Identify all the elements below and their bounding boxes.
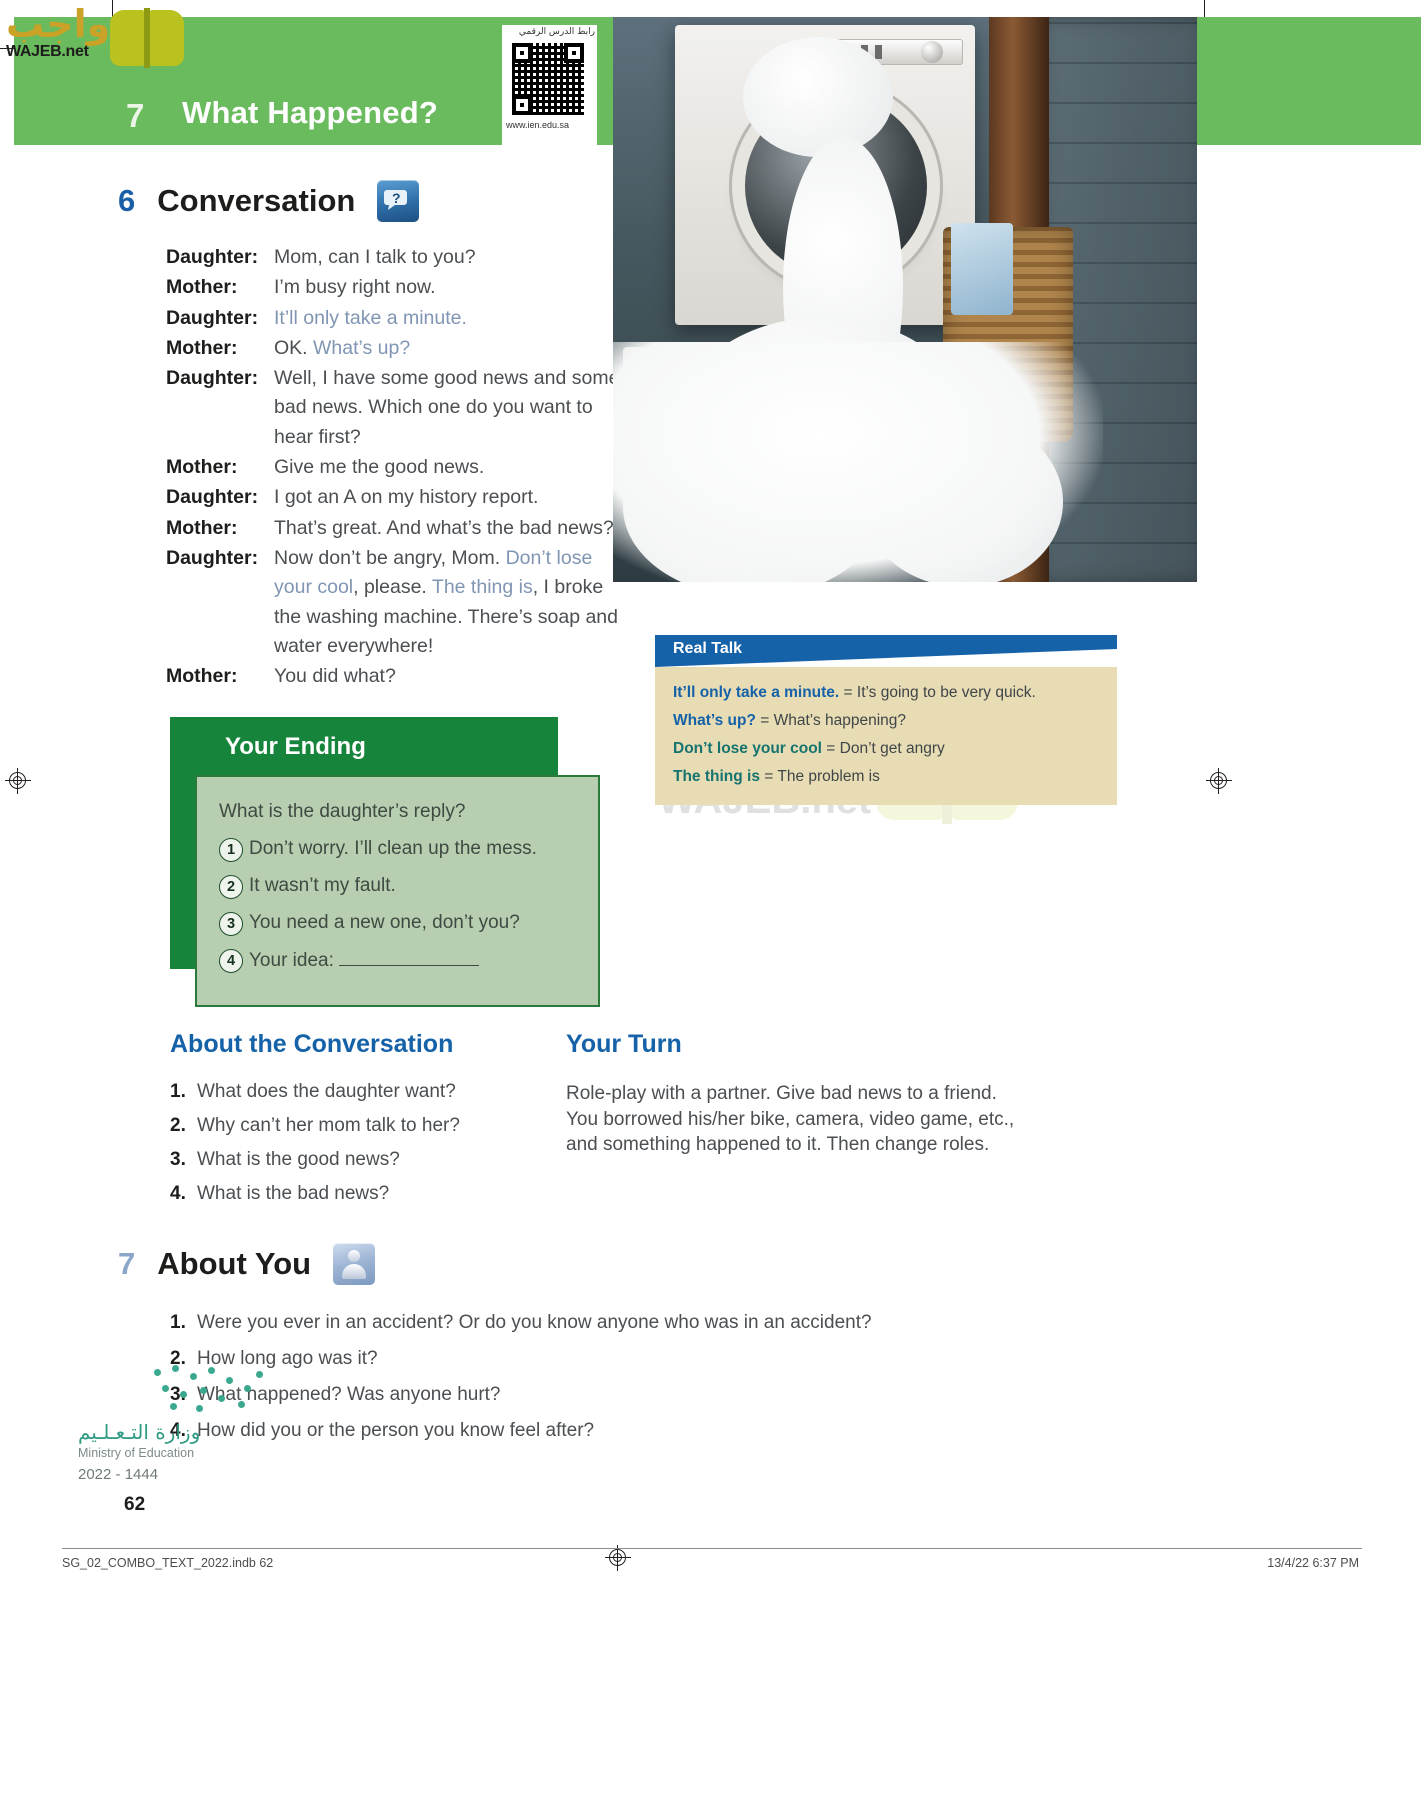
dialogue-text: It’ll only take a minute. bbox=[274, 304, 467, 333]
your-ending-options: 1Don’t worry. I’ll clean up the mess.2It… bbox=[219, 837, 580, 973]
dialogue-speaker: Mother: bbox=[166, 273, 274, 302]
dialogue-line: Mother:OK. What’s up? bbox=[166, 334, 626, 363]
your-turn-section: Your Turn Role-play with a partner. Give… bbox=[566, 1030, 1016, 1158]
real-talk-header: Real Talk bbox=[655, 635, 1117, 667]
your-ending-option[interactable]: 4Your idea: bbox=[219, 948, 580, 973]
qr-code-block[interactable]: رابط الدرس الرقمي www.ien.edu.sa bbox=[502, 25, 597, 150]
real-talk-meaning: = Don’t get angry bbox=[822, 740, 945, 757]
print-timestamp: 13/4/22 6:37 PM bbox=[1267, 1556, 1359, 1570]
real-talk-meaning: = It’s going to be very quick. bbox=[839, 684, 1036, 701]
dialogue-plain-text: That’s great. And what’s the bad news? bbox=[274, 517, 614, 539]
option-text: It wasn’t my fault. bbox=[249, 874, 396, 898]
your-ending-panel: What is the daughter’s reply? 1Don’t wor… bbox=[195, 775, 600, 1007]
real-talk-row: Don’t lose your cool = Don’t get angry bbox=[673, 735, 1101, 763]
option-text: Don’t worry. I’ll clean up the mess. bbox=[249, 837, 537, 861]
about-conversation-question: 1.What does the daughter want? bbox=[170, 1081, 560, 1103]
conversation-heading: 6 Conversation ? bbox=[118, 180, 419, 222]
your-ending-title: Your Ending bbox=[225, 733, 366, 761]
question-text: What does the daughter want? bbox=[197, 1081, 456, 1103]
dialogue-speaker: Daughter: bbox=[166, 544, 274, 661]
dialogue-plain-text: Well, I have some good news and some bad… bbox=[274, 367, 619, 448]
real-talk-meaning: = The problem is bbox=[760, 768, 880, 785]
about-conversation-question: 3.What is the good news? bbox=[170, 1149, 560, 1171]
question-number: 4. bbox=[170, 1183, 187, 1205]
dialogue-speaker: Daughter: bbox=[166, 243, 274, 272]
your-ending-option[interactable]: 1Don’t worry. I’ll clean up the mess. bbox=[219, 837, 580, 862]
about-you-question: 1.Were you ever in an accident? Or do yo… bbox=[170, 1312, 1170, 1334]
watermark-brand: WAJEB bbox=[6, 43, 61, 60]
person-icon bbox=[333, 1243, 375, 1285]
option-number-circle: 4 bbox=[219, 949, 243, 973]
real-talk-row: It’ll only take a minute. = It’s going t… bbox=[673, 679, 1101, 707]
about-conversation-question: 2.Why can’t her mom talk to her? bbox=[170, 1115, 560, 1137]
your-turn-title: Your Turn bbox=[566, 1030, 1016, 1059]
watermark-latin-text: WAJEB.net bbox=[6, 38, 89, 62]
dialogue-line: Mother:You did what? bbox=[166, 662, 626, 691]
dialogue-speaker: Mother: bbox=[166, 334, 274, 363]
option-number-circle: 1 bbox=[219, 838, 243, 862]
dialogue-plain-text: You did what? bbox=[274, 665, 396, 687]
unit-title: What Happened? bbox=[182, 95, 438, 131]
your-ending-header: Your Ending bbox=[170, 717, 558, 779]
dialogue-line: Daughter:Mom, can I talk to you? bbox=[166, 243, 626, 272]
dialogue-plain-text: OK. bbox=[274, 337, 313, 359]
dialogue-speaker: Mother: bbox=[166, 514, 274, 543]
your-idea-blank-line[interactable] bbox=[339, 948, 479, 966]
dialogue-plain-text: I’m busy right now. bbox=[274, 276, 435, 298]
your-turn-body: Role-play with a partner. Give bad news … bbox=[566, 1081, 1016, 1158]
dialogue-highlight-phrase: The thing is bbox=[432, 576, 533, 598]
conversation-section-number: 6 bbox=[118, 183, 135, 219]
dialogue-text: Well, I have some good news and some bad… bbox=[274, 364, 626, 452]
option-number-circle: 3 bbox=[219, 912, 243, 936]
dialogue-highlight-phrase: It’ll only take a minute. bbox=[274, 307, 467, 329]
real-talk-phrase: Don’t lose your cool bbox=[673, 740, 822, 757]
dialogue-highlight-phrase: What’s up? bbox=[313, 337, 410, 359]
dialogue-plain-text: , please. bbox=[353, 576, 432, 598]
dialogue-text: I’m busy right now. bbox=[274, 273, 435, 302]
about-you-section-number: 7 bbox=[118, 1246, 135, 1282]
registration-mark-right bbox=[1206, 768, 1232, 794]
real-talk-phrase: What’s up? bbox=[673, 712, 756, 729]
conversation-dialogue: Daughter:Mom, can I talk to you?Mother:I… bbox=[166, 243, 626, 692]
watermark-logo: واجب WAJEB.net bbox=[0, 0, 200, 70]
dialogue-line: Daughter:It’ll only take a minute. bbox=[166, 304, 626, 333]
dialogue-text: You did what? bbox=[274, 662, 396, 691]
question-text: What is the bad news? bbox=[197, 1183, 389, 1205]
option-text: You need a new one, don’t you? bbox=[249, 911, 520, 935]
about-you-question: 3.What happened? Was anyone hurt? bbox=[170, 1384, 1170, 1406]
open-book-icon bbox=[108, 6, 186, 70]
ministry-year: 2022 - 1444 bbox=[78, 1466, 200, 1483]
decorative-dots bbox=[150, 1365, 280, 1411]
question-number: 3. bbox=[170, 1149, 187, 1171]
watermark-tld: .net bbox=[61, 43, 88, 60]
qr-code-icon bbox=[512, 43, 584, 115]
washing-machine-photo bbox=[613, 17, 1197, 582]
about-you-section-title: About You bbox=[157, 1246, 311, 1282]
dialogue-plain-text: Give me the good news. bbox=[274, 456, 484, 478]
dialogue-text: That’s great. And what’s the bad news? bbox=[274, 514, 614, 543]
dialogue-speaker: Daughter: bbox=[166, 364, 274, 452]
dialogue-speaker: Mother: bbox=[166, 453, 274, 482]
about-the-conversation-section: About the Conversation 1.What does the d… bbox=[170, 1030, 560, 1217]
ministry-english: Ministry of Education bbox=[78, 1446, 200, 1460]
real-talk-phrase: The thing is bbox=[673, 768, 760, 785]
question-number: 1. bbox=[170, 1312, 187, 1334]
dialogue-line: Mother:Give me the good news. bbox=[166, 453, 626, 482]
dialogue-line: Mother:That’s great. And what’s the bad … bbox=[166, 514, 626, 543]
footer-divider bbox=[62, 1548, 1362, 1549]
about-the-conversation-questions: 1.What does the daughter want?2.Why can’… bbox=[170, 1081, 560, 1205]
real-talk-row: The thing is = The problem is bbox=[673, 763, 1101, 791]
dialogue-text: Now don’t be angry, Mom. Don’t lose your… bbox=[274, 544, 626, 661]
dialogue-plain-text: I got an A on my history report. bbox=[274, 486, 538, 508]
real-talk-phrase: It’ll only take a minute. bbox=[673, 684, 839, 701]
textbook-page: 7 What Happened? واجب WAJEB.net رابط الد… bbox=[0, 0, 1421, 1800]
question-text: Were you ever in an accident? Or do you … bbox=[197, 1312, 872, 1334]
dialogue-line: Daughter:I got an A on my history report… bbox=[166, 483, 626, 512]
qr-label-arabic: رابط الدرس الرقمي bbox=[519, 27, 595, 37]
question-text: What is the good news? bbox=[197, 1149, 400, 1171]
question-text: How did you or the person you know feel … bbox=[197, 1420, 594, 1442]
dialogue-speaker: Daughter: bbox=[166, 304, 274, 333]
your-ending-option[interactable]: 2It wasn’t my fault. bbox=[219, 874, 580, 899]
about-you-question: 4.How did you or the person you know fee… bbox=[170, 1420, 1170, 1442]
option-number-circle: 2 bbox=[219, 875, 243, 899]
dialogue-text: Give me the good news. bbox=[274, 453, 484, 482]
dialogue-line: Mother:I’m busy right now. bbox=[166, 273, 626, 302]
about-the-conversation-title: About the Conversation bbox=[170, 1030, 560, 1059]
question-number: 2. bbox=[170, 1115, 187, 1137]
dialogue-speaker: Daughter: bbox=[166, 483, 274, 512]
about-you-heading: 7 About You bbox=[118, 1243, 375, 1285]
real-talk-box: Real Talk It’ll only take a minute. = It… bbox=[655, 635, 1117, 805]
ministry-logo: وزارة التـعـلـيم Ministry of Education 2… bbox=[78, 1420, 200, 1483]
real-talk-body: It’ll only take a minute. = It’s going t… bbox=[655, 667, 1117, 805]
real-talk-title: Real Talk bbox=[673, 640, 742, 658]
ministry-arabic: وزارة التـعـلـيم bbox=[78, 1420, 200, 1444]
dialogue-text: Mom, can I talk to you? bbox=[274, 243, 476, 272]
dialogue-text: I got an A on my history report. bbox=[274, 483, 538, 512]
print-file-name: SG_02_COMBO_TEXT_2022.indb 62 bbox=[62, 1556, 273, 1570]
dialogue-line: Daughter:Well, I have some good news and… bbox=[166, 364, 626, 452]
speech-bubble-question-icon: ? bbox=[377, 180, 419, 222]
registration-mark-left bbox=[5, 768, 31, 794]
your-ending-box: Your Ending What is the daughter’s reply… bbox=[170, 717, 558, 779]
real-talk-row: What’s up? = What’s happening? bbox=[673, 707, 1101, 735]
about-you-question: 2.How long ago was it? bbox=[170, 1348, 1170, 1370]
qr-url: www.ien.edu.sa bbox=[506, 120, 569, 130]
your-ending-option[interactable]: 3You need a new one, don’t you? bbox=[219, 911, 580, 936]
about-you-questions: 1.Were you ever in an accident? Or do yo… bbox=[170, 1312, 1170, 1456]
question-number: 1. bbox=[170, 1081, 187, 1103]
about-conversation-question: 4.What is the bad news? bbox=[170, 1183, 560, 1205]
dialogue-text: OK. What’s up? bbox=[274, 334, 410, 363]
question-text: Why can’t her mom talk to her? bbox=[197, 1115, 460, 1137]
dialogue-plain-text: Mom, can I talk to you? bbox=[274, 246, 476, 268]
page-number: 62 bbox=[124, 1494, 145, 1516]
real-talk-meaning: = What’s happening? bbox=[756, 712, 906, 729]
your-ending-question: What is the daughter’s reply? bbox=[219, 801, 580, 823]
dialogue-line: Daughter:Now don’t be angry, Mom. Don’t … bbox=[166, 544, 626, 661]
dialogue-plain-text: Now don’t be angry, Mom. bbox=[274, 547, 506, 569]
unit-number: 7 bbox=[126, 97, 145, 135]
your-ending-side-bar bbox=[170, 779, 198, 969]
svg-text:?: ? bbox=[392, 190, 401, 206]
option-text: Your idea: bbox=[249, 948, 479, 973]
conversation-section-title: Conversation bbox=[157, 183, 355, 219]
dialogue-speaker: Mother: bbox=[166, 662, 274, 691]
